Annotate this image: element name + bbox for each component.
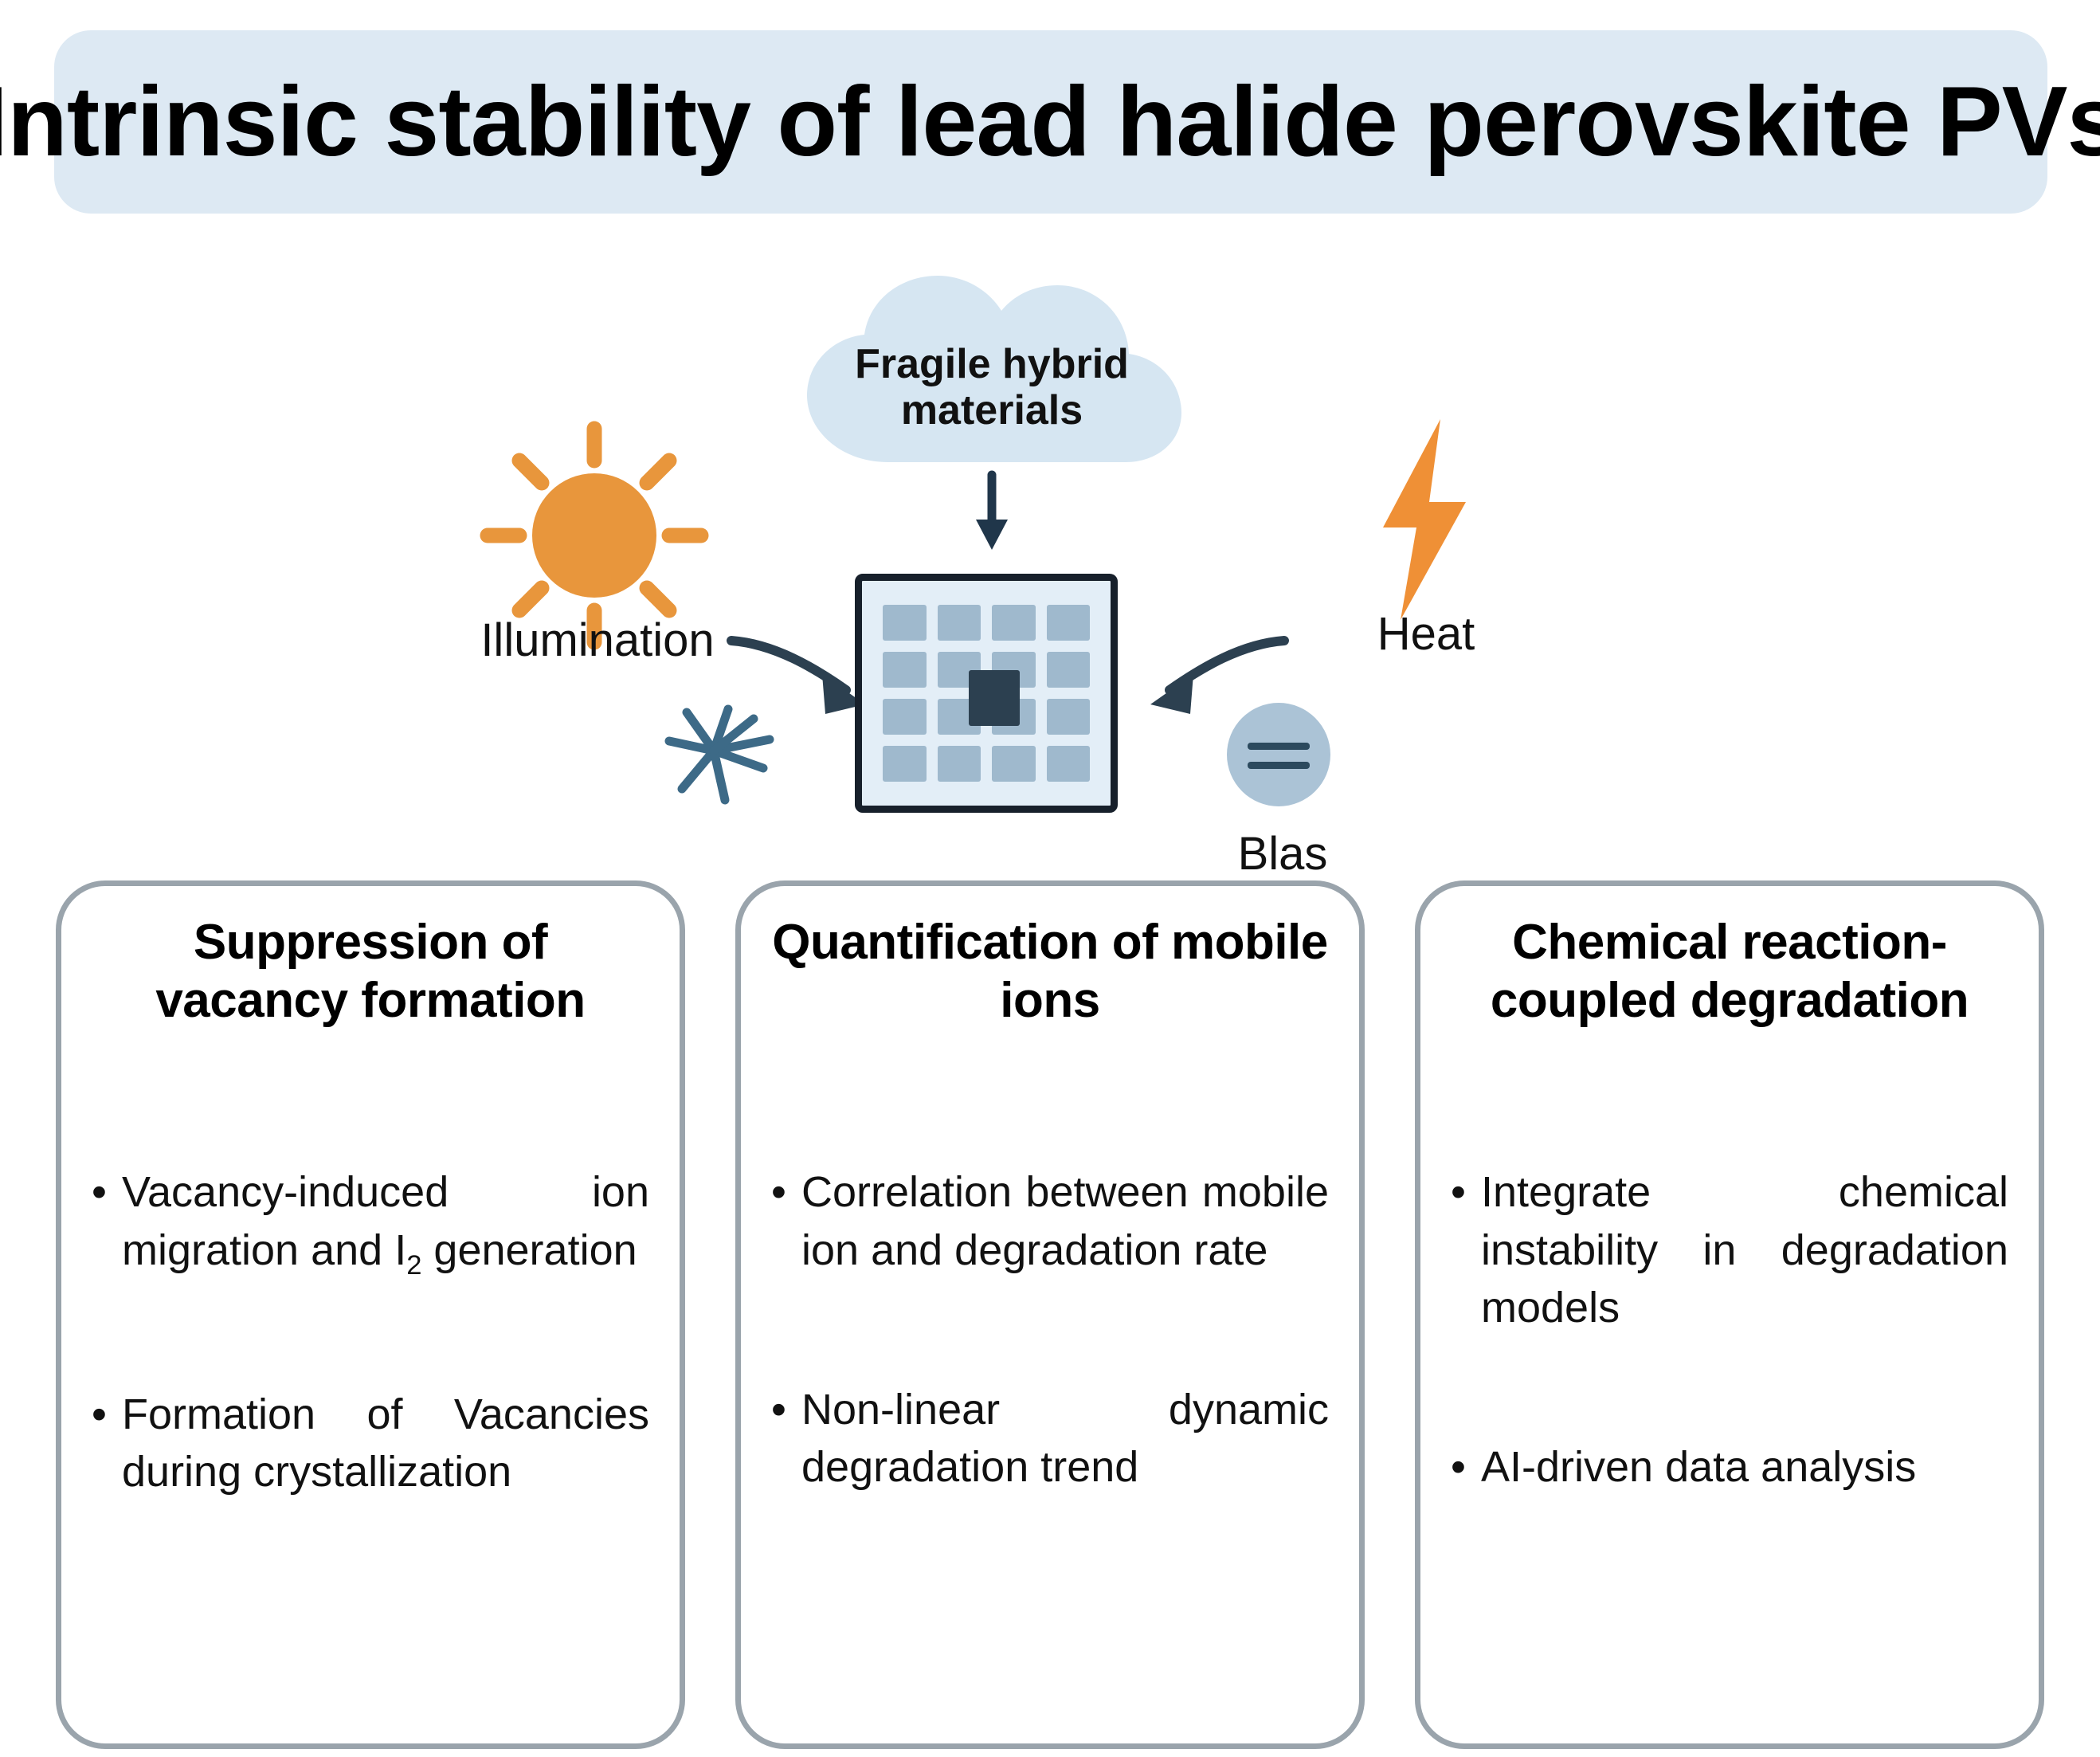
card-bullet-list: • Correlation between mobile ion and deg… [771,1163,1329,1598]
card-chemical-reaction-coupled-degradation: Chemical reaction-coupled degradation • … [1415,880,2044,1749]
heat-label: Heat [1283,607,1569,661]
bias-line-lower [1248,762,1310,769]
bullet-marker-icon: • [771,1381,801,1438]
fragile-materials-cloud: Fragile hybrid materials [785,271,1199,478]
subscript: 2 [406,1249,421,1280]
bullet-marker-icon: • [1451,1438,1481,1496]
panel-cell [883,746,927,782]
solar-panel-device [855,574,1118,813]
bullet-marker-icon: • [92,1386,122,1443]
card-bullet-list: • Integrate chemical instability in degr… [1451,1163,2008,1598]
panel-cell [992,746,1036,782]
bullet-text: AI-driven data analysis [1481,1438,2008,1496]
panel-cell [992,605,1036,641]
list-item: • Non-linear dynamic degradation trend [771,1381,1329,1496]
panel-defect-marker [969,670,1020,726]
panel-cell [938,605,981,641]
bias-label: Blas [1147,827,1418,880]
panel-cell [1047,652,1091,688]
card-suppression-of-vacancy-formation: Suppression of vacancy formation • Vacan… [56,880,685,1749]
bullet-text: Correlation between mobile ion and degra… [801,1163,1329,1279]
outcome-cards-row: Suppression of vacancy formation • Vacan… [0,880,2100,1757]
title-banner: Intrinsic stability of lead halide perov… [54,30,2047,214]
card-title: Quantification of mobile ions [771,913,1329,1029]
panel-cell [938,746,981,782]
list-item: • Integrate chemical instability in degr… [1451,1163,2008,1336]
panel-cell [1047,699,1091,735]
panel-cell [883,652,927,688]
card-quantification-of-mobile-ions: Quantification of mobile ions • Correlat… [735,880,1365,1749]
list-item: • Vacancy-induced ion migration and I2 g… [92,1163,649,1283]
bias-line-upper [1248,743,1310,750]
bullet-marker-icon: • [771,1163,801,1221]
panel-cell [883,699,927,735]
card-title: Chemical reaction-coupled degradation [1451,913,2008,1029]
card-title: Suppression of vacancy formation [92,913,649,1029]
bullet-text: Integrate chemical instability in degrad… [1481,1163,2008,1336]
panel-cell [1047,746,1091,782]
bullet-text: Non-linear dynamic degradation trend [801,1381,1329,1496]
cloud-icon [785,271,1199,478]
bullet-marker-icon: • [1451,1163,1481,1221]
bullet-text: Formation of Vacancies during crystalliz… [122,1386,649,1501]
lightning-bolt-icon [1364,416,1483,623]
bias-icon-group [1227,703,1338,814]
page-title: Intrinsic stability of lead halide perov… [0,73,2100,171]
bullet-text: Vacancy-induced ion migration and I2 gen… [122,1163,649,1283]
list-item: • Formation of Vacancies during crystall… [92,1386,649,1501]
panel-cell [883,605,927,641]
card-bullet-list: • Vacancy-induced ion migration and I2 g… [92,1163,649,1602]
stress-factors-diagram: Fragile hybrid materials Illumination [0,239,2100,877]
cloud-to-panel-arrow-icon [948,470,1036,558]
bias-circle-icon [1227,703,1330,806]
list-item: • AI-driven data analysis [1451,1438,2008,1496]
bullet-marker-icon: • [92,1163,122,1221]
panel-cell [1047,605,1091,641]
list-item: • Correlation between mobile ion and deg… [771,1163,1329,1279]
